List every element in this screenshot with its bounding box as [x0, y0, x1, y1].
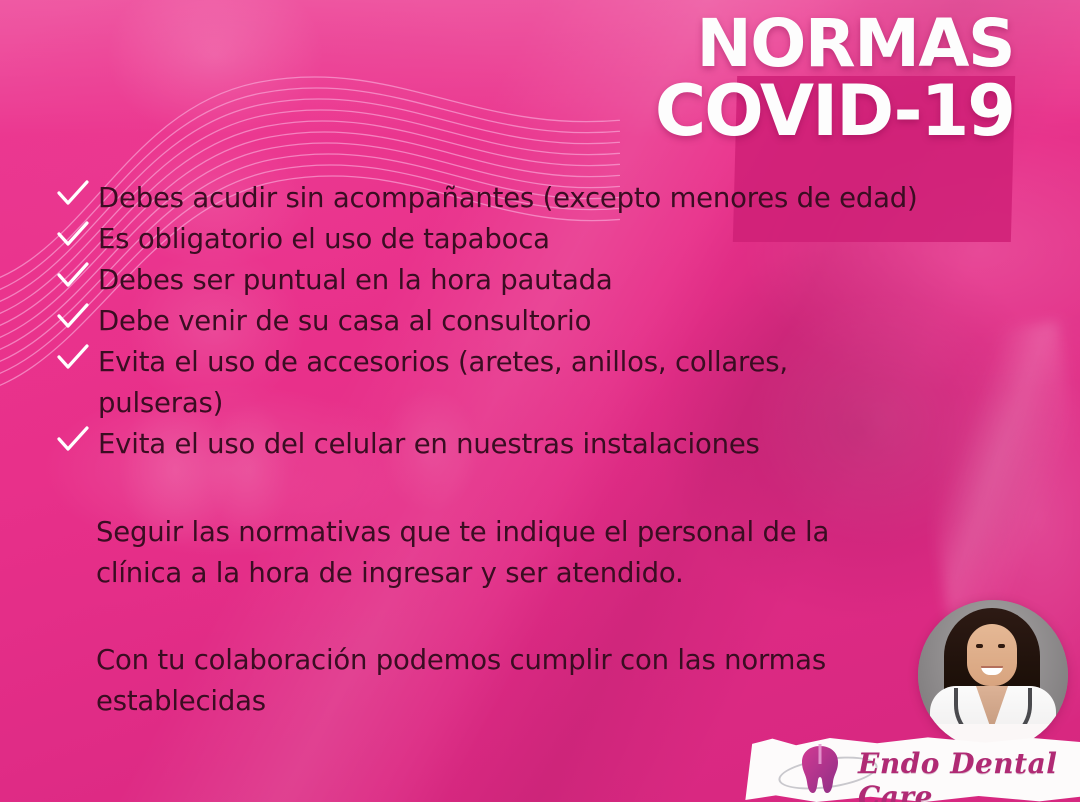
list-item-label: Debes acudir sin acompañantes (excepto m…	[98, 178, 918, 219]
brand-logo: Endo Dental Care	[742, 736, 1080, 802]
list-item-label: Evita el uso de accesorios (aretes, anil…	[98, 342, 788, 424]
check-icon	[56, 220, 98, 261]
dentist-portrait-avatar	[918, 600, 1068, 750]
list-item-label: Es obligatorio el uso de tapaboca	[98, 219, 550, 260]
covid-rules-poster: NORMAS COVID-19 Debes acudir sin acompañ…	[0, 0, 1080, 802]
rules-checklist: Debes acudir sin acompañantes (excepto m…	[56, 178, 1016, 465]
list-item-label: Debe venir de su casa al consultorio	[98, 301, 591, 342]
check-icon	[56, 179, 98, 220]
list-item-label: Seguir las normativas que te indique el …	[96, 512, 829, 594]
tooth-icon	[798, 744, 842, 794]
check-icon	[56, 425, 98, 466]
list-item-label: Debes ser puntual en la hora pautada	[98, 260, 613, 301]
list-item: Es obligatorio el uso de tapaboca	[56, 219, 1016, 260]
rules-notes: Seguir las normativas que te indique el …	[48, 512, 948, 768]
list-item: Con tu colaboración podemos cumplir con …	[48, 640, 948, 722]
diamond-bullet-icon	[48, 534, 96, 574]
list-item: Debes ser puntual en la hora pautada	[56, 260, 1016, 301]
list-item: Seguir las normativas que te indique el …	[48, 512, 948, 594]
portrait-face	[967, 624, 1017, 686]
list-item: Debes acudir sin acompañantes (excepto m…	[56, 178, 1016, 219]
logo-wordmark: Endo Dental Care	[858, 747, 1080, 802]
list-item: Evita el uso de accesorios (aretes, anil…	[56, 342, 1016, 424]
list-item: Evita el uso del celular en nuestras ins…	[56, 424, 1016, 465]
check-icon	[56, 343, 98, 384]
diamond-bullet-icon	[48, 662, 96, 702]
portrait-eye-left	[976, 644, 983, 648]
portrait-eye-right	[998, 644, 1005, 648]
title-line-covid: COVID-19	[655, 79, 1014, 143]
check-icon	[56, 302, 98, 343]
list-item: Debe venir de su casa al consultorio	[56, 301, 1016, 342]
title-line-normas: NORMAS	[655, 14, 1014, 75]
check-icon	[56, 261, 98, 302]
poster-title: NORMAS COVID-19	[655, 14, 1014, 143]
list-item-label: Evita el uso del celular en nuestras ins…	[98, 424, 760, 465]
list-item-label: Con tu colaboración podemos cumplir con …	[96, 640, 826, 722]
